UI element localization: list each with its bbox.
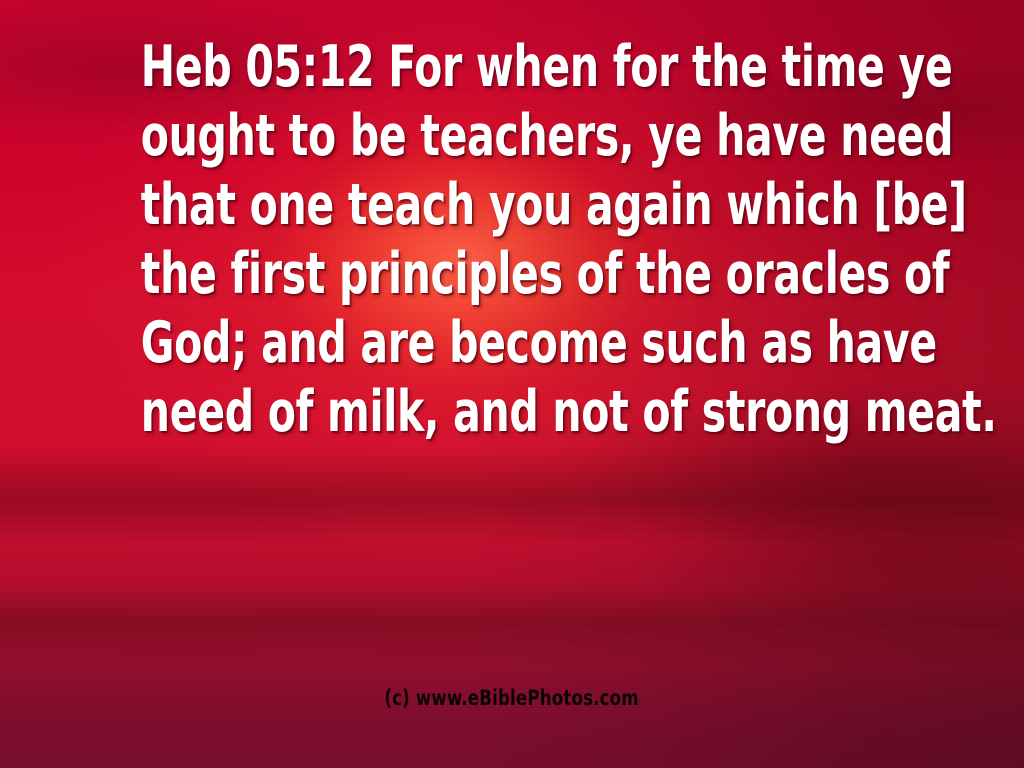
verse-text-block: Heb 05:12 For when for the time ye ought… [0,33,1024,447]
verse-line-2: ought to be teachers, ye have need [141,102,883,171]
verse-line-5: God; and are become such as have [141,309,883,378]
verse-line-1: Heb 05:12 For when for the time ye [141,33,883,102]
verse-image-canvas: Heb 05:12 For when for the time ye ought… [0,0,1024,768]
credit-text: (c) www.eBiblePhotos.com [385,686,639,710]
verse-line-6: need of milk, and not of strong meat. [141,378,883,447]
credit-watermark: (c) www.eBiblePhotos.com [0,686,1024,710]
verse-line-4: the first principles of the oracles of [141,240,883,309]
verse-line-3: that one teach you again which [be] [141,171,883,240]
